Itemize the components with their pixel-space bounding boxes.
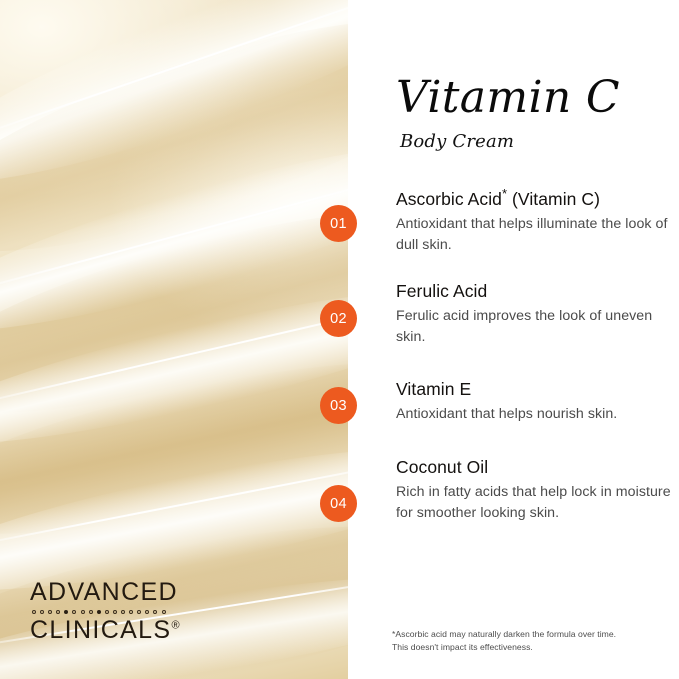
ornament-dot xyxy=(81,610,85,614)
ornament-dot xyxy=(137,610,141,614)
ingredient-name: Vitamin E xyxy=(396,379,671,400)
ingredient-name-text: Coconut Oil xyxy=(396,457,488,477)
ingredient-name: Ascorbic Acid* (Vitamin C) xyxy=(396,186,671,210)
cream-specular-line xyxy=(0,163,348,300)
ornament-dot xyxy=(121,610,125,614)
ingredient-item-01: Ascorbic Acid* (Vitamin C) Antioxidant t… xyxy=(396,186,671,256)
ingredient-name-text: Ferulic Acid xyxy=(396,281,487,301)
brand-name-line2: CLINICALS® xyxy=(30,618,180,643)
ingredient-name-text: Ascorbic Acid xyxy=(396,189,502,209)
ornament-dot xyxy=(32,610,36,614)
brand-dot-ornament xyxy=(32,610,180,614)
footnote-disclaimer: *Ascorbic acid may naturally darken the … xyxy=(392,628,632,654)
ingredient-item-02: Ferulic Acid Ferulic acid improves the l… xyxy=(396,281,671,348)
ingredient-description: Ferulic acid improves the look of uneven… xyxy=(396,306,671,348)
ingredient-item-03: Vitamin E Antioxidant that helps nourish… xyxy=(396,379,671,425)
ingredient-description: Antioxidant that helps illuminate the lo… xyxy=(396,214,671,256)
ornament-dot-filled xyxy=(64,610,68,614)
cream-specular-line xyxy=(0,453,348,555)
brand-logo: ADVANCED CLINICALS® xyxy=(30,580,180,643)
ornament-dot-filled xyxy=(97,610,101,614)
ornament-dot xyxy=(56,610,60,614)
ornament-dot xyxy=(48,610,52,614)
cream-swirl-highlight xyxy=(0,260,348,472)
ingredient-badge-01: 01 xyxy=(320,205,357,242)
product-subtitle: Body Cream xyxy=(400,131,620,152)
ingredient-description: Rich in fatty acids that help lock in mo… xyxy=(396,482,671,524)
ingredient-item-04: Coconut Oil Rich in fatty acids that hel… xyxy=(396,457,671,524)
brand-name-line1: ADVANCED xyxy=(30,580,180,605)
ingredient-name-suffix: (Vitamin C) xyxy=(507,189,600,209)
title-block: Vitamin C Body Cream xyxy=(396,76,620,152)
brand-name-line2-text: CLINICALS xyxy=(30,616,171,644)
product-title: Vitamin C xyxy=(396,76,620,120)
cream-swirl-shadow xyxy=(0,0,348,298)
ingredient-name-text: Vitamin E xyxy=(396,379,471,399)
ingredient-name: Ferulic Acid xyxy=(396,281,671,302)
ingredient-badge-03: 03 xyxy=(320,387,357,424)
ornament-dot xyxy=(40,610,44,614)
info-panel: Vitamin C Body Cream Ascorbic Acid* (Vit… xyxy=(348,0,679,679)
cream-swirl-highlight xyxy=(0,0,348,220)
registered-trademark-icon: ® xyxy=(171,620,179,632)
cream-swirl-highlight xyxy=(0,110,348,364)
ornament-dot xyxy=(72,610,76,614)
ornament-dot xyxy=(89,610,93,614)
ingredient-name: Coconut Oil xyxy=(396,457,671,478)
ingredient-badge-02: 02 xyxy=(320,300,357,337)
ornament-dot xyxy=(129,610,133,614)
cream-specular-line xyxy=(0,0,348,148)
cream-swirl-shadow xyxy=(0,170,348,454)
ornament-dot xyxy=(105,610,109,614)
ingredient-description: Antioxidant that helps nourish skin. xyxy=(396,404,671,425)
cream-swirl-shadow xyxy=(0,327,348,570)
cream-specular-line xyxy=(0,294,348,413)
ornament-dot xyxy=(162,610,166,614)
ornament-dot xyxy=(153,610,157,614)
ornament-dot xyxy=(113,610,117,614)
ingredient-badge-04: 04 xyxy=(320,485,357,522)
ornament-dot xyxy=(145,610,149,614)
